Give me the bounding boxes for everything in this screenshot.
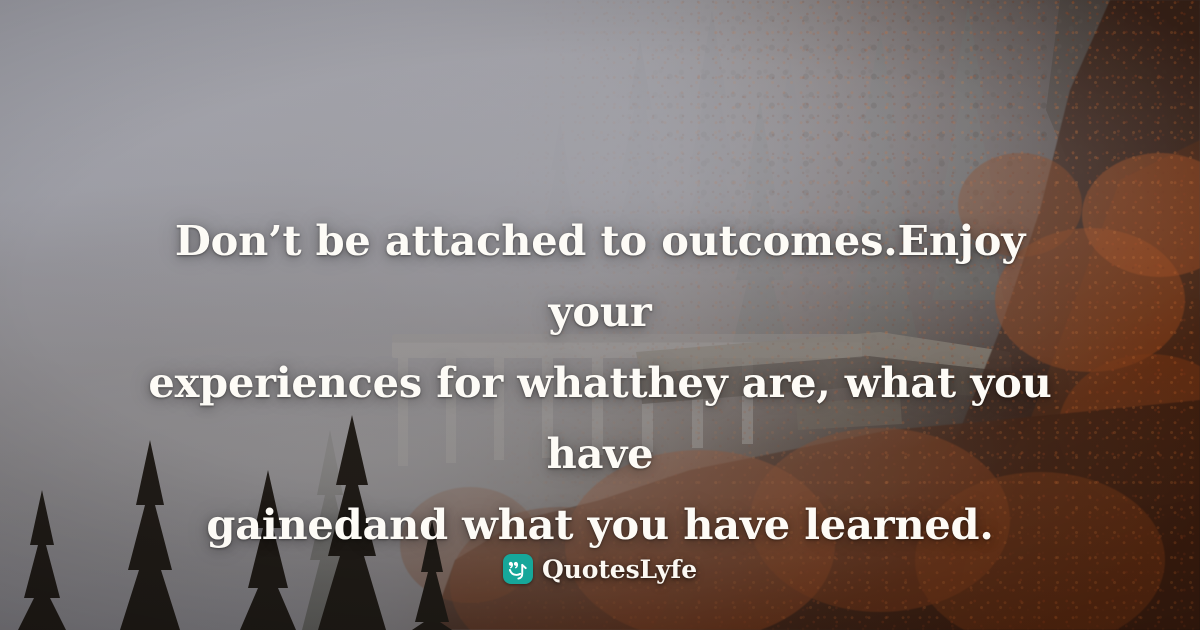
brand-lockup[interactable]: QuotesLyfe: [0, 554, 1200, 584]
quote-line: gainedand what you have learned.: [135, 489, 1065, 560]
quote-line: Don’t be attached to outcomes.Enjoy your: [135, 205, 1065, 347]
brand-name: QuotesLyfe: [542, 555, 697, 584]
quote-text: Don’t be attached to outcomes.Enjoy your…: [135, 205, 1065, 560]
card-content: Don’t be attached to outcomes.Enjoy your…: [0, 0, 1200, 630]
quoteslyfe-smiley-logo-icon: [503, 554, 533, 584]
quote-line: experiences for whatthey are, what you h…: [135, 347, 1065, 489]
quote-card: Don’t be attached to outcomes.Enjoy your…: [0, 0, 1200, 630]
